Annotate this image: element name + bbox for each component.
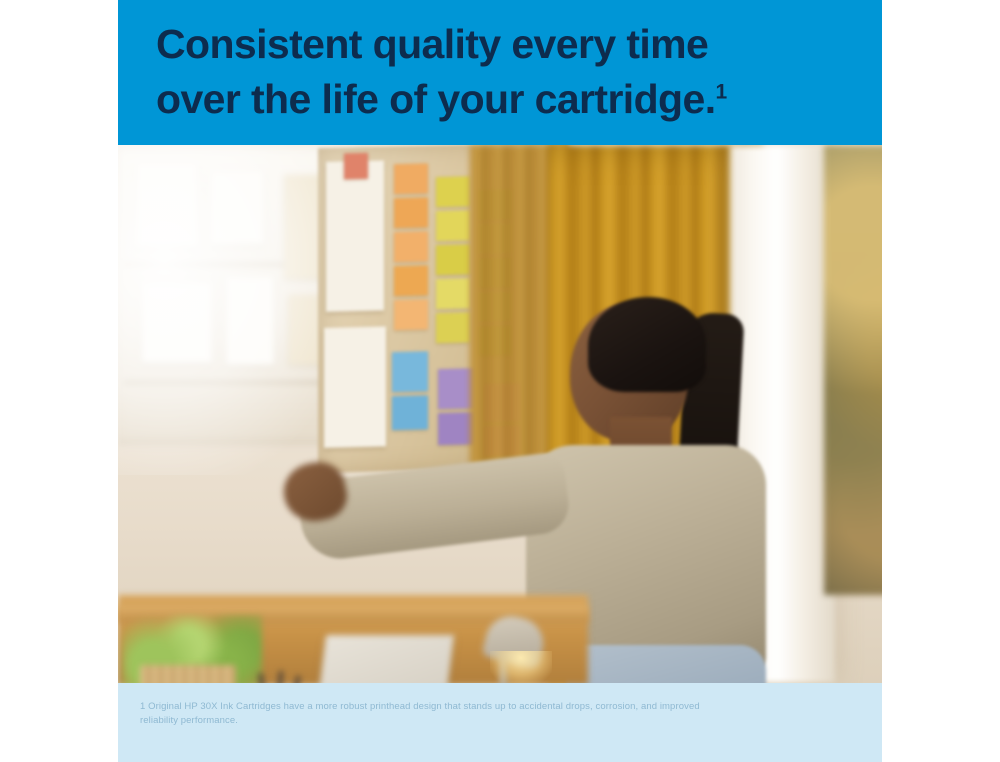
page-title: Consistent quality every time over the l… (156, 17, 856, 127)
headline-text: Consistent quality every time over the l… (156, 21, 716, 122)
window-autumn-view (824, 145, 882, 595)
plant-pot (140, 665, 236, 683)
person-jeans (566, 645, 766, 683)
lamp-glow (490, 651, 552, 683)
footnote-marker: 1 (716, 80, 727, 103)
footnote-band: 1 Original HP 30X Ink Cartridges have a … (118, 683, 882, 762)
window-light-wash (118, 145, 348, 475)
ad-page: Consistent quality every time over the l… (0, 0, 1000, 762)
person-hair-top (588, 297, 706, 392)
ad-content-column: Consistent quality every time over the l… (118, 0, 882, 762)
hero-photo (118, 145, 882, 683)
footnote-text: 1 Original HP 30X Ink Cartridges have a … (140, 700, 720, 728)
headline-banner: Consistent quality every time over the l… (118, 0, 882, 145)
laptop-screen (310, 635, 454, 683)
